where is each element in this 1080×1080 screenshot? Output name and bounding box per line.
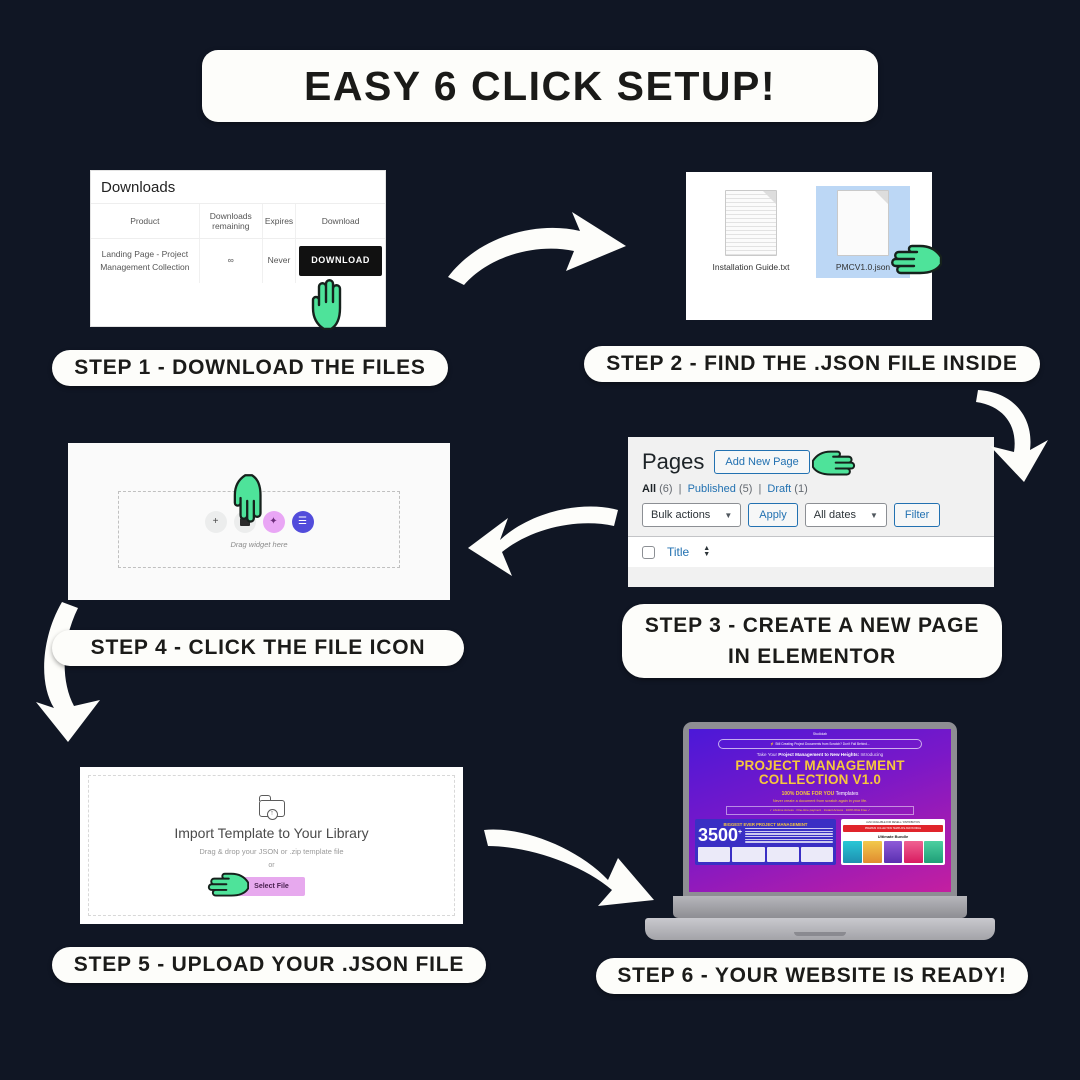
pages-title: Pages <box>642 449 704 475</box>
select-all-checkbox[interactable] <box>642 546 655 559</box>
filter-separator: | <box>679 483 682 495</box>
bundle-card-top: ALSO AVAILABLE FOR RESELL / DISTRIBUTION <box>843 821 943 824</box>
hero-kicker-bold: Project Management to New Heights: <box>778 752 859 757</box>
arrow-step4-to-step5 <box>28 596 118 746</box>
site-brand: Studiolab <box>689 729 951 736</box>
chevron-down-icon: ▼ <box>724 511 732 520</box>
import-title: Import Template to Your Library <box>174 825 368 841</box>
step5-screenshot-import-template: ↑ Import Template to Your Library Drag &… <box>80 767 463 924</box>
filter-draft-label[interactable]: Draft <box>767 483 791 495</box>
hero-headline: PROJECT MANAGEMENT COLLECTION V1.0 <box>689 759 951 788</box>
all-dates-value: All dates <box>814 509 856 521</box>
file-name: Installation Guide.txt <box>706 262 796 273</box>
hero-kicker-pre: Take Your <box>757 752 778 757</box>
step-5-label-text: STEP 5 - UPLOAD YOUR .JSON FILE <box>74 949 464 981</box>
column-download: Download <box>296 204 385 239</box>
hand-cursor-select-file <box>207 871 249 904</box>
bundle-card-banner: PREMIUM COLLECTION TEMPLATE AND BUNDLE <box>843 825 943 832</box>
step-3-label-line1: STEP 3 - CREATE A NEW PAGE <box>645 614 979 637</box>
hand-cursor-download <box>310 278 350 330</box>
step-4-label-text: STEP 4 - CLICK THE FILE ICON <box>91 632 426 664</box>
filter-published-count: (5) <box>739 483 752 495</box>
filter-separator: | <box>758 483 761 495</box>
column-downloads-remaining: Downloads remaining <box>199 204 262 239</box>
filter-draft-count: (1) <box>794 483 807 495</box>
bundle-card: ALSO AVAILABLE FOR RESELL / DISTRIBUTION… <box>841 819 945 865</box>
step6-laptop-mockup: Studiolab ⚡ Still Creating Project Docum… <box>645 722 995 940</box>
add-element-icon[interactable]: + <box>205 511 227 533</box>
status-filter-links: All (6) | Published (5) | Draft (1) <box>628 481 994 503</box>
step-6-label-text: STEP 6 - YOUR WEBSITE IS READY! <box>617 960 1006 992</box>
import-subtitle: Drag & drop your JSON or .zip template f… <box>199 847 343 856</box>
step-1-label-text: STEP 1 - DOWNLOAD THE FILES <box>74 352 425 384</box>
hero-subhead: 100% DONE FOR YOU Templates <box>689 791 951 797</box>
bulk-actions-value: Bulk actions <box>651 509 710 521</box>
hero-subhead-2: Never create a document from scratch aga… <box>689 799 951 803</box>
bundle-card-thumbnails <box>843 841 943 863</box>
drag-widget-hint: Drag widget here <box>230 540 287 549</box>
filter-published-label[interactable]: Published <box>688 483 736 495</box>
hero-subhead-yellow: 100% DONE FOR YOU <box>782 791 835 797</box>
cell-expires: Never <box>262 239 295 283</box>
hero-badge: ⚡ Still Creating Project Documents from … <box>718 739 922 749</box>
step-4-label: STEP 4 - CLICK THE FILE ICON <box>52 630 464 666</box>
apply-button[interactable]: Apply <box>748 503 798 527</box>
table-row: Landing Page - Project Management Collec… <box>91 239 385 283</box>
stat-card-body: 3500+ <box>698 827 833 844</box>
stat-card-grid <box>698 847 833 862</box>
laptop-base <box>645 918 995 940</box>
template-library-icon[interactable]: ☰ <box>292 511 314 533</box>
step-5-label: STEP 5 - UPLOAD YOUR .JSON FILE <box>52 947 486 983</box>
hand-cursor-json-file <box>890 243 942 283</box>
import-dropzone[interactable]: ↑ Import Template to Your Library Drag &… <box>88 775 455 916</box>
hero-subhead-white: Templates <box>834 791 858 797</box>
cell-product: Landing Page - Project Management Collec… <box>91 239 199 283</box>
hero-headline-line1: PROJECT MANAGEMENT <box>689 759 951 773</box>
hero-kicker: Take Your Project Management to New Heig… <box>689 752 951 757</box>
hero-kicker-post: Introducing <box>859 752 883 757</box>
table-header-row: Product Downloads remaining Expires Down… <box>91 204 385 239</box>
step-3-label: STEP 3 - CREATE A NEW PAGE IN ELEMENTOR <box>622 604 1002 678</box>
step-1-label: STEP 1 - DOWNLOAD THE FILES <box>52 350 448 386</box>
column-expires: Expires <box>262 204 295 239</box>
downloads-heading: Downloads <box>91 171 385 204</box>
column-title[interactable]: Title <box>667 545 689 559</box>
download-button[interactable]: DOWNLOAD <box>299 246 382 276</box>
import-or-divider: or <box>268 862 274 869</box>
arrow-step1-to-step2 <box>440 205 640 305</box>
stat-card: BIGGEST EVER PROJECT MANAGEMENT 3500+ <box>695 819 836 865</box>
text-file-icon <box>725 190 777 256</box>
stat-card-number: 3500+ <box>698 827 742 844</box>
arrow-step3-to-step4 <box>466 490 626 585</box>
all-dates-select[interactable]: All dates ▼ <box>805 503 887 527</box>
step-3-label-text: STEP 3 - CREATE A NEW PAGE IN ELEMENTOR <box>645 610 979 673</box>
pages-header: Pages Add New Page <box>628 437 994 481</box>
add-new-page-button[interactable]: Add New Page <box>714 450 809 474</box>
laptop-screen: Studiolab ⚡ Still Creating Project Docum… <box>689 729 951 892</box>
page-title: EASY 6 CLICK SETUP! <box>202 50 878 122</box>
chevron-down-icon: ▼ <box>870 511 878 520</box>
bulk-actions-select[interactable]: Bulk actions ▼ <box>642 503 741 527</box>
json-file-icon <box>837 190 889 256</box>
arrow-step5-to-step6 <box>478 818 668 914</box>
stat-card-lines <box>745 827 833 844</box>
step-2-label-text: STEP 2 - FIND THE .JSON FILE INSIDE <box>606 348 1018 380</box>
hero-cards: BIGGEST EVER PROJECT MANAGEMENT 3500+ AL… <box>689 815 951 865</box>
step3-screenshot-wordpress-pages: Pages Add New Page All (6) | Published (… <box>628 437 994 587</box>
laptop-lid: Studiolab ⚡ Still Creating Project Docum… <box>683 722 957 900</box>
page-title-text: EASY 6 CLICK SETUP! <box>304 63 776 110</box>
laptop-notch <box>794 932 846 936</box>
filter-button[interactable]: Filter <box>894 503 940 527</box>
column-product: Product <box>91 204 199 239</box>
list-item-installation-guide[interactable]: Installation Guide.txt <box>704 186 798 278</box>
cell-download: DOWNLOAD <box>296 239 385 283</box>
pages-table-header: Title ▲▼ <box>628 536 994 567</box>
hero-benefits-strip: ✓ Lifetime Access · One-time payment · I… <box>726 806 915 815</box>
downloads-table: Product Downloads remaining Expires Down… <box>91 204 385 283</box>
pages-toolbar: Bulk actions ▼ Apply All dates ▼ Filter <box>628 503 994 536</box>
laptop-keyboard <box>673 896 967 918</box>
hand-cursor-add-new-page <box>812 449 856 483</box>
sort-arrows-icon[interactable]: ▲▼ <box>703 546 710 559</box>
filter-all-label[interactable]: All <box>642 483 656 495</box>
step-3-label-line2: IN ELEMENTOR <box>728 645 896 668</box>
infographic-stage: EASY 6 CLICK SETUP! Downloads Product Do… <box>0 0 1080 1080</box>
step-6-label: STEP 6 - YOUR WEBSITE IS READY! <box>596 958 1028 994</box>
bundle-card-title: Ultimate Bundle <box>843 834 943 839</box>
arrow-step2-to-step3 <box>968 382 1058 487</box>
hero-headline-line2: COLLECTION V1.0 <box>689 773 951 787</box>
filter-all-count: (6) <box>659 483 672 495</box>
hand-cursor-file-icon <box>232 474 270 524</box>
upload-folder-icon: ↑ <box>259 795 285 817</box>
step-2-label: STEP 2 - FIND THE .JSON FILE INSIDE <box>584 346 1040 382</box>
cell-remaining: ∞ <box>199 239 262 283</box>
